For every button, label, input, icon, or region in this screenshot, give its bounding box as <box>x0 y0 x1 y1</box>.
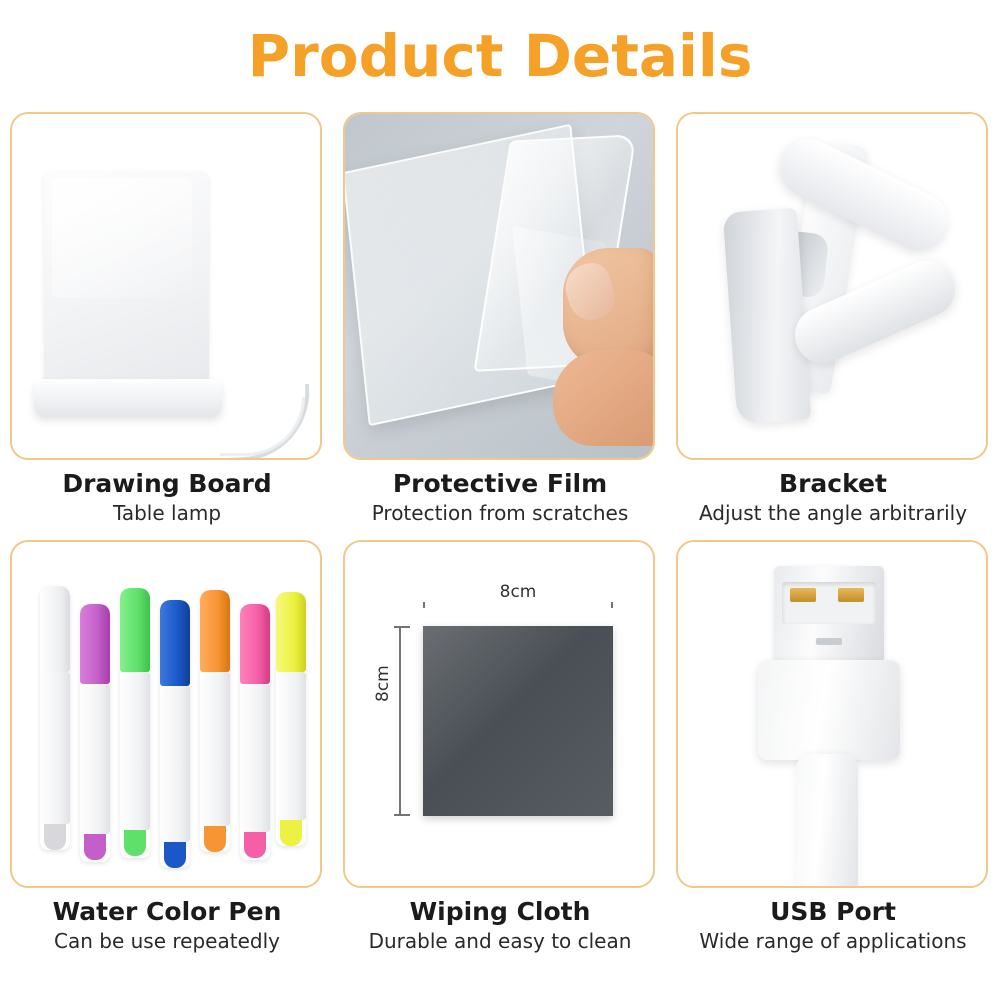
lamp-base <box>34 379 222 417</box>
pen-cap <box>40 586 70 672</box>
pen-body <box>240 684 270 832</box>
feature-card-usb-port: USB Port Wide range of applications <box>676 540 990 960</box>
pen-cap <box>276 592 306 672</box>
bracket-photo <box>676 112 988 460</box>
bracket-front-leg <box>723 208 812 425</box>
pen-tip <box>124 830 146 856</box>
pen-body <box>40 672 70 824</box>
feature-subtitle: Durable and easy to clean <box>343 930 657 952</box>
pen-tip <box>164 842 186 868</box>
pen-body <box>80 684 110 834</box>
pen-tip <box>204 826 226 852</box>
pen-4 <box>160 600 190 868</box>
pen-cap <box>200 590 230 672</box>
feature-subtitle: Wide range of applications <box>676 930 990 952</box>
pen-body <box>200 672 230 826</box>
pen-tip <box>280 820 302 846</box>
feature-card-bracket: Bracket Adjust the angle arbitrarily <box>676 112 990 532</box>
caption-water-color-pen: Water Color Pen Can be use repeatedly <box>10 898 324 952</box>
feature-subtitle: Adjust the angle arbitrarily <box>676 502 990 524</box>
usb-contact-pin <box>790 588 816 602</box>
product-details-page: Product Details Drawing Board Table lamp <box>0 0 1000 1000</box>
pen-cap <box>160 600 190 686</box>
pen-tip <box>84 834 106 860</box>
pen-tip <box>244 832 266 858</box>
caption-bracket: Bracket Adjust the angle arbitrarily <box>676 470 990 524</box>
usb-shell-slot <box>816 638 842 645</box>
pen-cap <box>120 588 150 672</box>
pen-6 <box>240 604 270 860</box>
pen-1 <box>40 586 70 850</box>
feature-card-water-color-pen: Water Color Pen Can be use repeatedly <box>10 540 324 960</box>
feature-card-wiping-cloth: 8cm 8cm Wiping Cloth Durable and easy to… <box>343 540 657 960</box>
caption-drawing-board: Drawing Board Table lamp <box>10 470 324 524</box>
height-dimension-line <box>399 626 415 816</box>
pen-3 <box>120 588 150 858</box>
feature-title: Water Color Pen <box>10 898 324 926</box>
microfiber-cloth <box>423 626 613 816</box>
caption-wiping-cloth: Wiping Cloth Durable and easy to clean <box>343 898 657 952</box>
pen-body <box>120 672 150 830</box>
usb-port-photo <box>676 540 988 888</box>
page-title: Product Details <box>0 22 1000 90</box>
usb-cable <box>796 754 858 888</box>
feature-title: USB Port <box>676 898 990 926</box>
pen-group <box>12 542 320 886</box>
pen-7 <box>276 592 306 846</box>
feature-title: Bracket <box>676 470 990 498</box>
pen-cap <box>80 604 110 684</box>
drawing-board-photo <box>10 112 322 460</box>
pen-body <box>160 686 190 842</box>
lamp-acrylic-panel <box>44 172 209 390</box>
hand-thumb <box>553 350 655 446</box>
pen-tip <box>44 824 66 850</box>
caption-usb-port: USB Port Wide range of applications <box>676 898 990 952</box>
pen-body <box>276 672 306 820</box>
feature-subtitle: Table lamp <box>10 502 324 524</box>
caption-protective-film: Protective Film Protection from scratche… <box>343 470 657 524</box>
wiping-cloth-photo: 8cm 8cm <box>343 540 655 888</box>
feature-subtitle: Protection from scratches <box>343 502 657 524</box>
pen-cap <box>240 604 270 684</box>
water-color-pens-photo <box>10 540 322 888</box>
feature-title: Protective Film <box>343 470 657 498</box>
feature-card-protective-film: Protective Film Protection from scratche… <box>343 112 657 532</box>
feature-subtitle: Can be use repeatedly <box>10 930 324 952</box>
usb-contact-pin <box>838 588 864 602</box>
usb-plug-housing <box>758 660 900 760</box>
product-feature-grid: Drawing Board Table lamp Protective Film… <box>10 112 990 960</box>
protective-film-photo <box>343 112 655 460</box>
pen-5 <box>200 590 230 852</box>
feature-title: Drawing Board <box>10 470 324 498</box>
pen-2 <box>80 604 110 862</box>
feature-card-drawing-board: Drawing Board Table lamp <box>10 112 324 532</box>
width-dimension-label: 8cm <box>423 582 613 602</box>
lamp-cable-highlight <box>220 397 305 456</box>
height-dimension-label: 8cm <box>373 665 393 702</box>
feature-title: Wiping Cloth <box>343 898 657 926</box>
